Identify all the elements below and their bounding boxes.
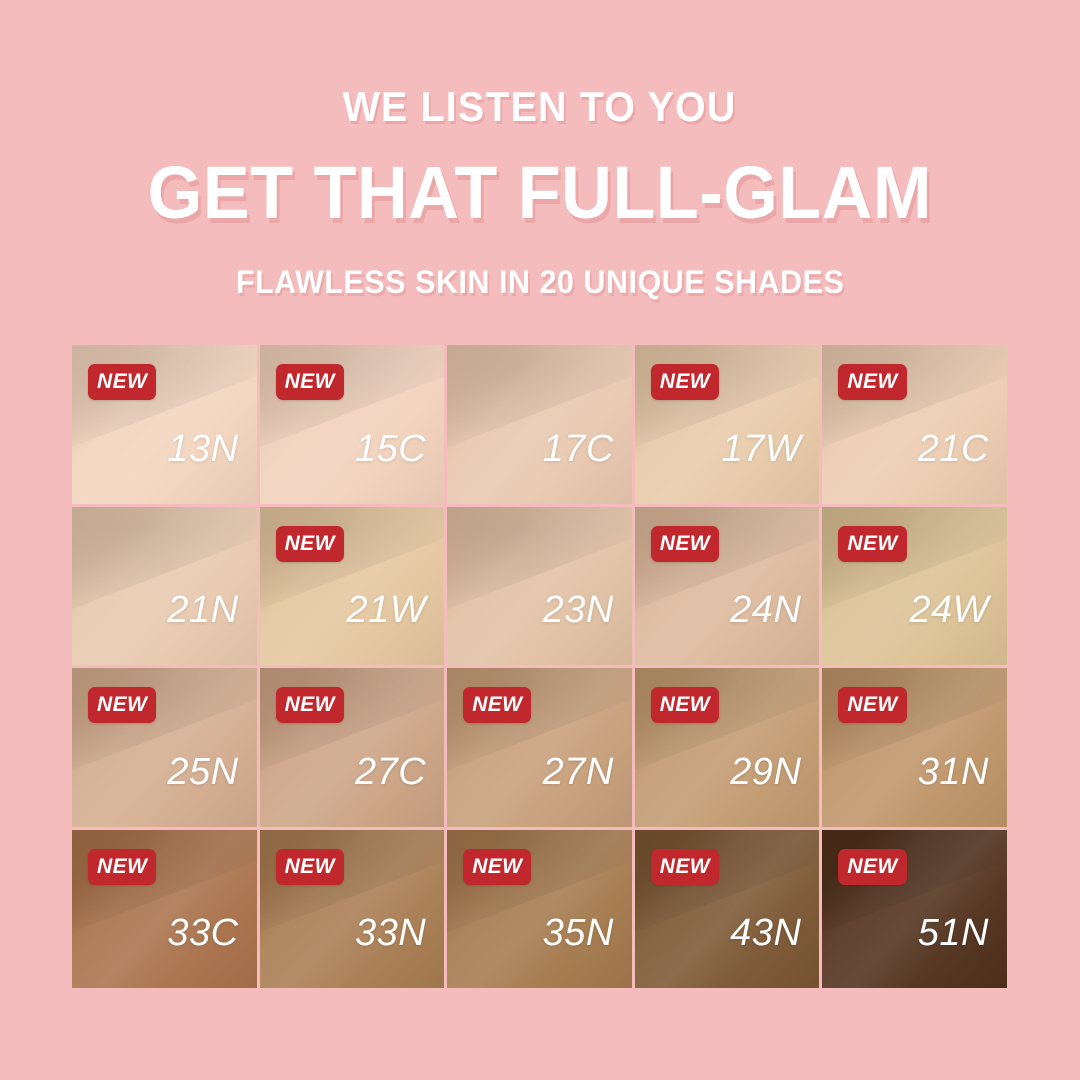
shade-name-label: 33N [355, 914, 426, 952]
shade-name-label: 31N [918, 753, 989, 791]
new-badge: NEW [463, 849, 531, 885]
new-badge: NEW [276, 849, 344, 885]
new-badge: NEW [838, 364, 906, 400]
shade-swatch[interactable]: NEW25N [72, 668, 257, 827]
promo-header: WE LISTEN TO YOU GET THAT FULL-GLAM FLAW… [0, 0, 1080, 330]
subheadline-text: FLAWLESS SKIN IN 20 UNIQUE SHADES [236, 266, 844, 298]
new-badge: NEW [88, 849, 156, 885]
shade-name-label: 17W [722, 430, 802, 468]
shade-name-label: 21W [347, 591, 427, 629]
shade-name-label: 21N [167, 591, 238, 629]
shade-name-label: 13N [167, 430, 238, 468]
new-badge: NEW [276, 526, 344, 562]
new-badge: NEW [838, 526, 906, 562]
shade-swatch[interactable]: NEW27N [447, 668, 632, 827]
shade-swatch[interactable]: NEW21W [260, 507, 445, 666]
new-badge: NEW [651, 364, 719, 400]
new-badge: NEW [651, 526, 719, 562]
shade-swatch[interactable]: NEW43N [635, 830, 820, 989]
new-badge: NEW [838, 687, 906, 723]
shade-name-label: 24W [909, 591, 989, 629]
shade-swatch[interactable]: 21N [72, 507, 257, 666]
shade-name-label: 29N [730, 753, 801, 791]
shade-swatch[interactable]: 23N [447, 507, 632, 666]
shade-swatch[interactable]: NEW31N [822, 668, 1007, 827]
shade-swatch[interactable]: NEW17W [635, 345, 820, 504]
shade-name-label: 43N [730, 914, 801, 952]
shade-swatch[interactable]: NEW15C [260, 345, 445, 504]
shade-name-label: 27N [543, 753, 614, 791]
shade-name-label: 25N [167, 753, 238, 791]
shade-swatch[interactable]: NEW24N [635, 507, 820, 666]
shade-swatch[interactable]: 17C [447, 345, 632, 504]
shade-range-promo-graphic: WE LISTEN TO YOU GET THAT FULL-GLAM FLAW… [0, 0, 1080, 1080]
headline-text: GET THAT FULL-GLAM [148, 156, 932, 230]
shade-swatch[interactable]: NEW51N [822, 830, 1007, 989]
shade-swatch[interactable]: NEW27C [260, 668, 445, 827]
new-badge: NEW [463, 687, 531, 723]
shade-swatch[interactable]: NEW33C [72, 830, 257, 989]
shade-name-label: 23N [543, 591, 614, 629]
new-badge: NEW [651, 849, 719, 885]
shade-swatch[interactable]: NEW21C [822, 345, 1007, 504]
shade-swatch[interactable]: NEW29N [635, 668, 820, 827]
shade-name-label: 27C [355, 753, 426, 791]
new-badge: NEW [276, 687, 344, 723]
new-badge: NEW [276, 364, 344, 400]
shade-swatch-grid: NEW13NNEW15C17CNEW17WNEW21C21NNEW21W23NN… [72, 345, 1007, 988]
new-badge: NEW [651, 687, 719, 723]
shade-name-label: 24N [730, 591, 801, 629]
shade-name-label: 35N [543, 914, 614, 952]
shade-swatch[interactable]: NEW35N [447, 830, 632, 989]
new-badge: NEW [88, 364, 156, 400]
shade-name-label: 51N [918, 914, 989, 952]
shade-name-label: 21C [918, 430, 989, 468]
new-badge: NEW [838, 849, 906, 885]
shade-swatch[interactable]: NEW13N [72, 345, 257, 504]
eyebrow-text: WE LISTEN TO YOU [343, 86, 737, 128]
shade-name-label: 15C [355, 430, 426, 468]
shade-swatch[interactable]: NEW33N [260, 830, 445, 989]
shade-swatch[interactable]: NEW24W [822, 507, 1007, 666]
shade-name-label: 17C [543, 430, 614, 468]
shade-name-label: 33C [167, 914, 238, 952]
new-badge: NEW [88, 687, 156, 723]
